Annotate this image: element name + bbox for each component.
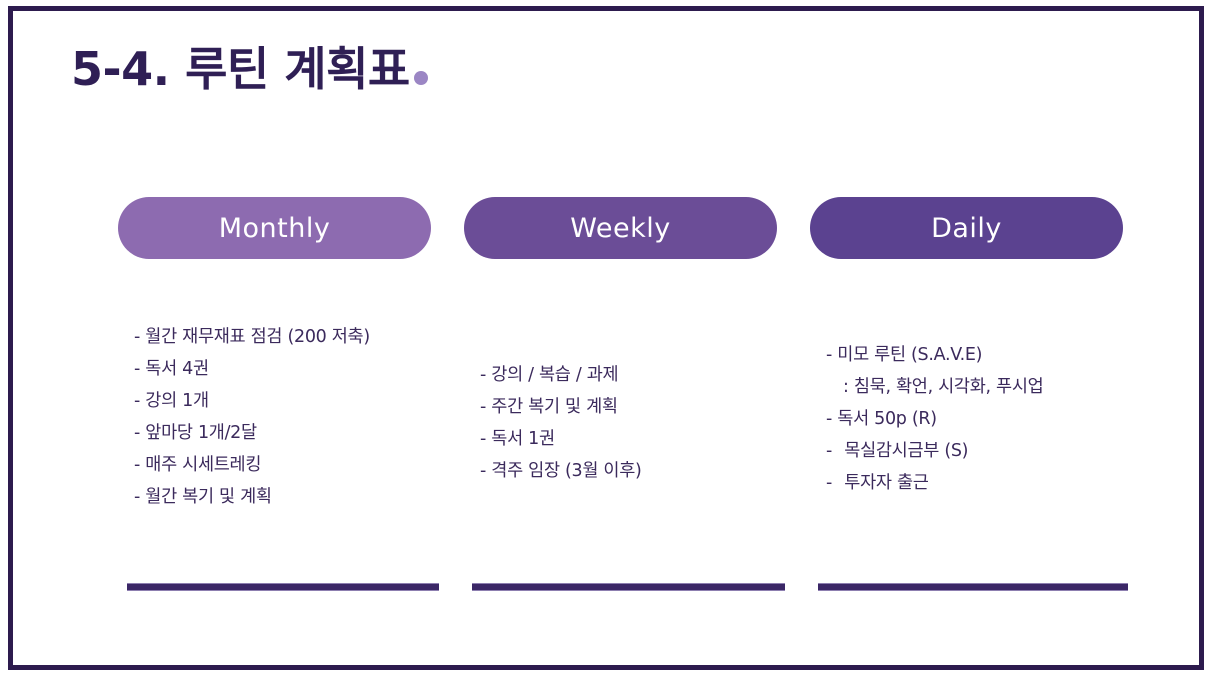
list-item: - 목실감시금부 (S) (826, 435, 1156, 467)
list-monthly: - 월간 재무재표 점검 (200 저축) - 독서 4권 - 강의 1개 - … (134, 321, 464, 513)
list-item-text: 독서 50p (R) (837, 409, 937, 429)
list-item-text: 침묵, 확언, 시각화, 푸시업 (854, 377, 1044, 397)
bullet-dash: - (480, 461, 486, 481)
list-item: - 독서 1권 (480, 423, 810, 455)
routine-columns: Monthly - 월간 재무재표 점검 (200 저축) - 독서 4권 - … (13, 11, 1199, 665)
list-item-text: 앞마당 1개/2달 (145, 423, 257, 443)
bullet-dash: - (134, 359, 140, 379)
list-item: - 강의 1개 (134, 385, 464, 417)
list-item: - 투자자 출근 (826, 467, 1156, 499)
list-item: - 미모 루틴 (S.A.V.E) (826, 339, 1156, 371)
bullet-dash: - (134, 327, 140, 347)
column-header-weekly[interactable]: Weekly (464, 197, 777, 259)
column-underline (818, 583, 1128, 591)
bullet-dash: - (134, 487, 140, 507)
list-item: - 격주 임장 (3월 이후) (480, 455, 810, 487)
list-item-text: 월간 복기 및 계획 (145, 487, 271, 507)
bullet-dash: - (826, 441, 839, 461)
list-item: - 주간 복기 및 계획 (480, 391, 810, 423)
list-item: - 강의 / 복습 / 과제 (480, 359, 810, 391)
list-item: - 독서 4권 (134, 353, 464, 385)
bullet-dash: - (826, 473, 839, 493)
list-item: - 월간 복기 및 계획 (134, 481, 464, 513)
list-item-text: 투자자 출근 (844, 473, 928, 493)
list-item-text: 격주 임장 (3월 이후) (491, 461, 641, 481)
bullet-dash: - (480, 429, 486, 449)
list-item: - 월간 재무재표 점검 (200 저축) (134, 321, 464, 353)
slide-frame: 5-4. 루틴 계획표 Monthly - 월간 재무재표 점검 (200 저축… (8, 6, 1204, 670)
list-item-text: 강의 / 복습 / 과제 (491, 365, 618, 385)
list-item: - 매주 시세트레킹 (134, 449, 464, 481)
list-item: - 독서 50p (R) (826, 403, 1156, 435)
column-underline (127, 583, 439, 591)
list-weekly: - 강의 / 복습 / 과제 - 주간 복기 및 계획 - 독서 1권 - 격주… (480, 359, 810, 487)
column-header-monthly[interactable]: Monthly (118, 197, 431, 259)
list-item-text: 강의 1개 (145, 391, 209, 411)
list-item-text: 매주 시세트레킹 (145, 455, 261, 475)
bullet-dash: - (480, 397, 486, 417)
bullet-dash: - (826, 409, 832, 429)
list-item-text: 주간 복기 및 계획 (491, 397, 617, 417)
bullet-dash: - (826, 345, 832, 365)
list-item-text: 목실감시금부 (S) (844, 441, 968, 461)
list-daily: - 미모 루틴 (S.A.V.E) : 침묵, 확언, 시각화, 푸시업 - 독… (826, 339, 1156, 499)
list-item: - 앞마당 1개/2달 (134, 417, 464, 449)
list-item-text: 미모 루틴 (S.A.V.E) (837, 345, 982, 365)
column-header-daily[interactable]: Daily (810, 197, 1123, 259)
bullet-dash: - (134, 423, 140, 443)
bullet-dash: - (480, 365, 486, 385)
bullet-dash: - (134, 455, 140, 475)
column-underline (472, 583, 785, 591)
list-item-text: 독서 1권 (491, 429, 555, 449)
list-item-text: 독서 4권 (145, 359, 209, 379)
bullet-colon: : (843, 377, 849, 397)
bullet-dash: - (134, 391, 140, 411)
list-item-sub: : 침묵, 확언, 시각화, 푸시업 (826, 371, 1156, 403)
list-item-text: 월간 재무재표 점검 (200 저축) (145, 327, 370, 347)
